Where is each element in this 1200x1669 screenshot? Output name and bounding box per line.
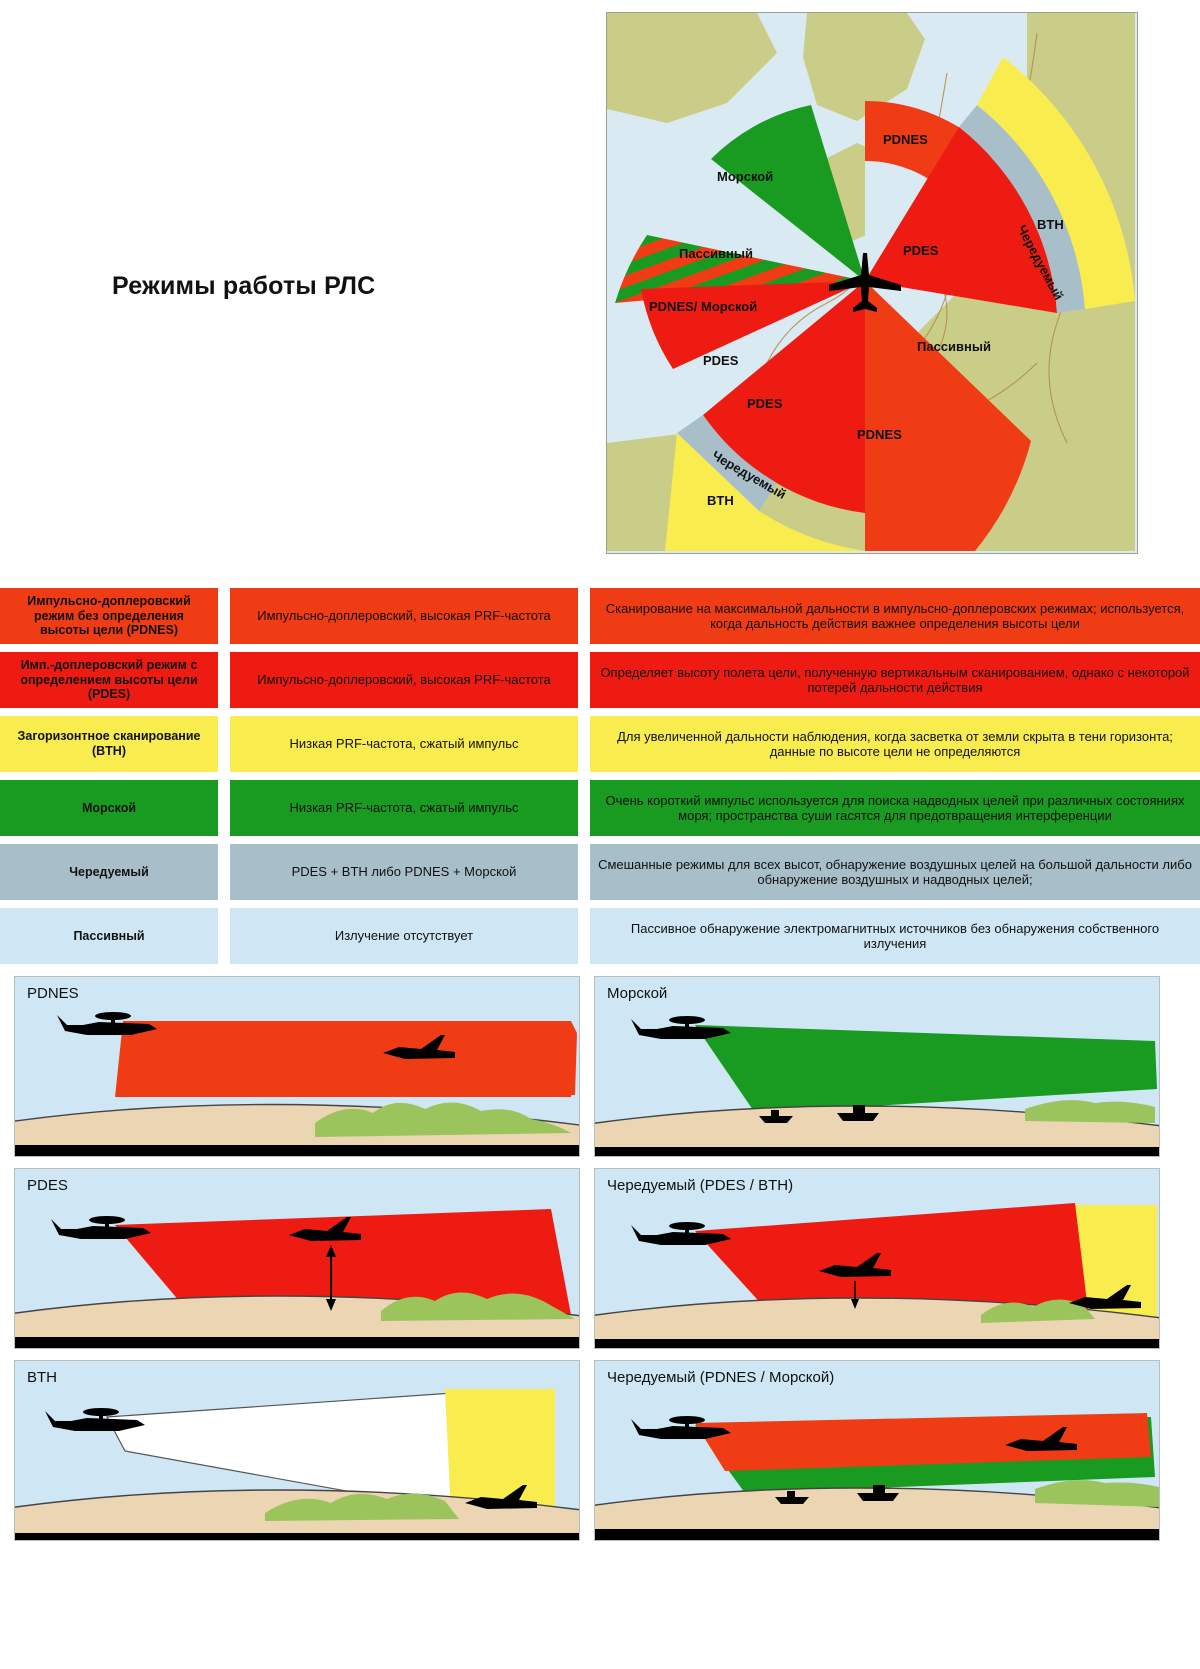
waveform-cell: Низкая PRF-частота, сжатый импульс [230, 716, 578, 772]
panel-label: Чередуемый (PDES / BTH) [607, 1177, 793, 1194]
sector-label: Пассивный [917, 339, 991, 354]
ground-bar [15, 1337, 579, 1348]
description-cell: Сканирование на максимальной дальности в… [590, 588, 1200, 644]
sector-label: BTH [707, 493, 734, 508]
panel-pdes: PDES [14, 1168, 580, 1349]
mode-name-cell: Импульсно-доплеровский режим без определ… [0, 588, 218, 644]
radar-map-svg: PDNES Морской Пассивный PDES Чередуемый … [607, 13, 1135, 551]
ground-bar [595, 1339, 1159, 1348]
panel-label: Чередуемый (PDNES / Морской) [607, 1369, 834, 1386]
panel-row: BTH Чередуемый (PDNES / Морской) [14, 1360, 1186, 1541]
sector-label: BTH [1037, 217, 1064, 232]
ground-bar [15, 1533, 579, 1540]
modes-legend-table: Импульсно-доплеровский режим без определ… [0, 588, 1200, 972]
panel-label: BTH [27, 1369, 57, 1386]
table-row: Чередуемый PDES + BTH либо PDNES + Морск… [0, 844, 1200, 900]
description-cell: Очень короткий импульс используется для … [590, 780, 1200, 836]
sector-label: Пассивный [679, 246, 753, 261]
waveform-cell: Импульсно-доплеровский, высокая PRF-част… [230, 588, 578, 644]
description-cell: Пассивное обнаружение электромагнитных и… [590, 908, 1200, 964]
sector-label: Морской [717, 169, 773, 184]
sector-label: PDNES/ Морской [649, 299, 757, 314]
sector-label: PDNES [857, 427, 902, 442]
waveform-cell: PDES + BTH либо PDNES + Морской [230, 844, 578, 900]
description-cell: Для увеличенной дальности наблюдения, ко… [590, 716, 1200, 772]
mode-name-cell: Имп.-доплеровский режим с определением в… [0, 652, 218, 708]
terrain [1035, 1480, 1159, 1507]
panel-naval: Морской [594, 976, 1160, 1157]
panel-label: PDNES [27, 985, 79, 1002]
table-row: Загоризонтное сканирование (BTH) Низкая … [0, 716, 1200, 772]
mode-name-cell: Морской [0, 780, 218, 836]
mode-name-cell: Чередуемый [0, 844, 218, 900]
waveform-cell: Низкая PRF-частота, сжатый импульс [230, 780, 578, 836]
ground-bar [15, 1145, 579, 1156]
sector-label: PDNES [883, 132, 928, 147]
description-cell: Смешанные режимы для всех высот, обнаруж… [590, 844, 1200, 900]
panel-label: PDES [27, 1177, 68, 1194]
table-row: Пассивный Излучение отсутствует Пассивно… [0, 908, 1200, 964]
panel-row: PDES [14, 1168, 1186, 1349]
sector-label: PDES [703, 353, 739, 368]
ground-bar [595, 1529, 1159, 1540]
mode-name-cell: Пассивный [0, 908, 218, 964]
sector-label: PDES [747, 396, 783, 411]
table-row: Имп.-доплеровский режим с определением в… [0, 652, 1200, 708]
panel-label: Морской [607, 985, 667, 1002]
mode-illustration-panels: PDNES Морской [14, 976, 1186, 1552]
table-row: Морской Низкая PRF-частота, сжатый импул… [0, 780, 1200, 836]
ground-bar [595, 1147, 1159, 1156]
radar-coverage-map: PDNES Морской Пассивный PDES Чередуемый … [606, 12, 1138, 554]
waveform-cell: Импульсно-доплеровский, высокая PRF-част… [230, 652, 578, 708]
mode-name-cell: Загоризонтное сканирование (BTH) [0, 716, 218, 772]
panel-alternating-pdnes-naval: Чередуемый (PDNES / Морской) [594, 1360, 1160, 1541]
description-cell: Определяет высоту полета цели, полученну… [590, 652, 1200, 708]
panel-row: PDNES Морской [14, 976, 1186, 1157]
terrain [1025, 1100, 1155, 1123]
panel-alternating-pdes-bth: Чередуемый (PDES / BTH) [594, 1168, 1160, 1349]
table-row: Импульсно-доплеровский режим без определ… [0, 588, 1200, 644]
sector-label: PDES [903, 243, 939, 258]
panel-bth: BTH [14, 1360, 580, 1541]
page-title: Режимы работы РЛС [112, 272, 532, 301]
waveform-cell: Излучение отсутствует [230, 908, 578, 964]
panel-pdnes: PDNES [14, 976, 580, 1157]
